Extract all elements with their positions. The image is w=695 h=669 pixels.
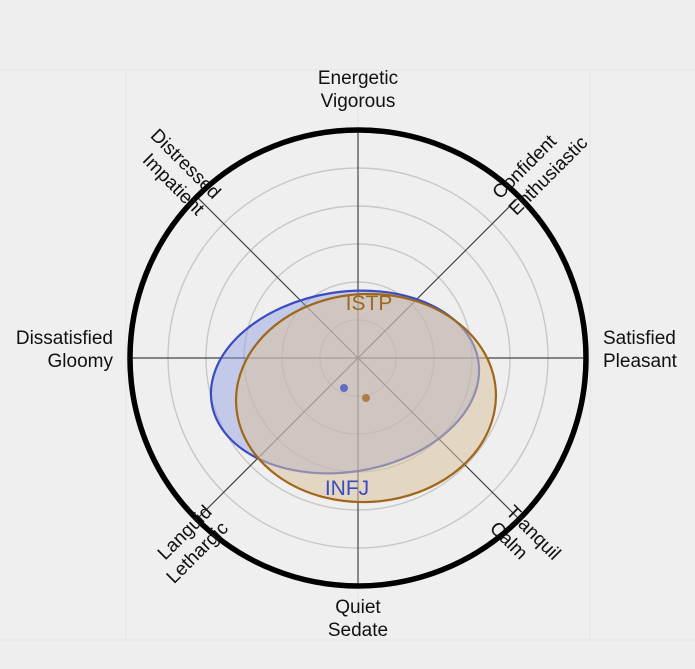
series-centroid-infj: [340, 384, 348, 392]
series-label-infj: INFJ: [325, 477, 369, 500]
series-label-istp: ISTP: [346, 292, 393, 315]
radar-chart: EnergeticVigorousConfidentEnthusiasticSa…: [0, 0, 695, 669]
series-centroid-istp: [362, 394, 370, 402]
